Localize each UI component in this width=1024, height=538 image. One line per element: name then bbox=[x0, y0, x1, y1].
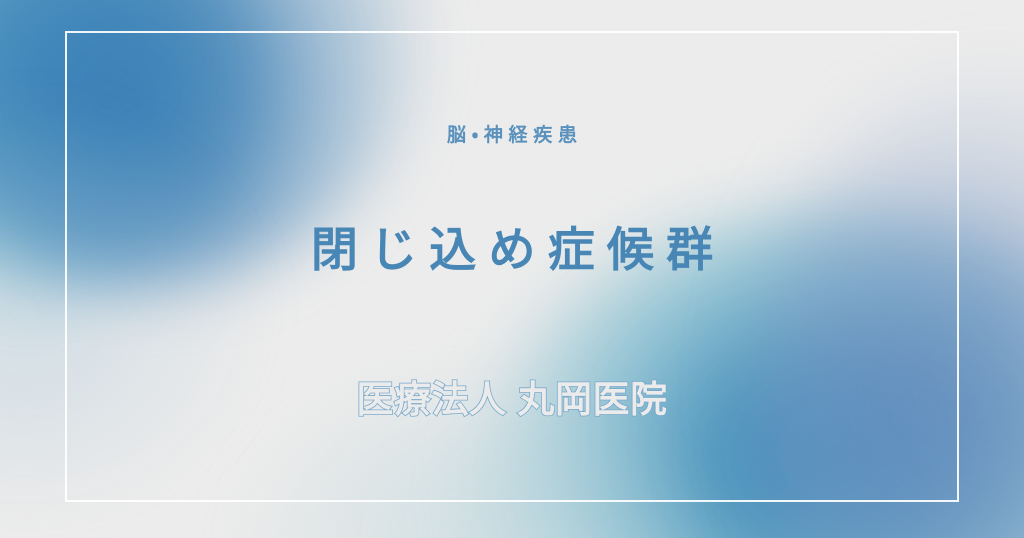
category-label: 脳・神経疾患 bbox=[441, 126, 582, 145]
eyecatch-card: 脳・神経疾患 閉じ込め症候群 医療法人 丸岡医院 bbox=[0, 0, 1024, 538]
title-content: 脳・神経疾患 閉じ込め症候群 医療法人 丸岡医院 bbox=[0, 0, 1024, 538]
clinic-name: 医療法人 丸岡医院 bbox=[356, 380, 667, 421]
page-title: 閉じ込め症候群 bbox=[299, 225, 726, 276]
